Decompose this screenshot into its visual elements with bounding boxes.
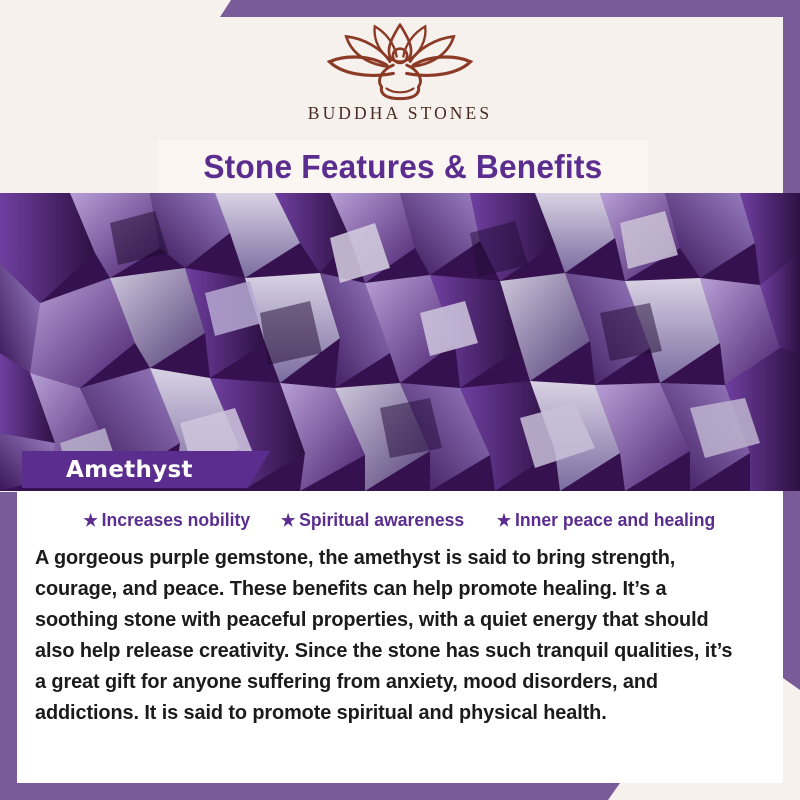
brand-name: BUDDHA STONES [308,103,492,124]
frame-bottom-border [0,783,620,800]
lotus-meditation-figure-icon [315,18,485,102]
content-panel: ★ Increases nobility ★ Spiritual awarene… [17,491,783,783]
amethyst-crystal-cluster-illustration [0,193,800,491]
feature-item-increases-nobility: ★ Increases nobility [83,509,250,531]
frame-left-border [0,492,17,800]
feature-label: Inner peace and healing [515,509,715,531]
stone-name-tag: Amethyst [22,451,270,488]
description-text: A gorgeous purple gemstone, the amethyst… [35,542,743,728]
star-icon: ★ [281,512,295,529]
page-title: Stone Features & Benefits [203,148,602,186]
hero-image [0,193,800,491]
star-icon: ★ [83,512,97,529]
brand-logo: BUDDHA STONES [0,18,800,140]
feature-item-spiritual-awareness: ★ Spiritual awareness [281,509,464,531]
feature-label: Increases nobility [101,509,249,531]
feature-label: Spiritual awareness [299,509,464,531]
frame-top-border [220,0,800,17]
poster-root: BUDDHA STONES Stone Features & Benefits [0,0,800,800]
feature-list: ★ Increases nobility ★ Spiritual awarene… [35,491,765,531]
feature-item-inner-peace-and-healing: ★ Inner peace and healing [497,509,716,531]
stone-name-label: Amethyst [66,457,193,483]
title-banner: Stone Features & Benefits [158,140,648,193]
star-icon: ★ [497,512,511,529]
